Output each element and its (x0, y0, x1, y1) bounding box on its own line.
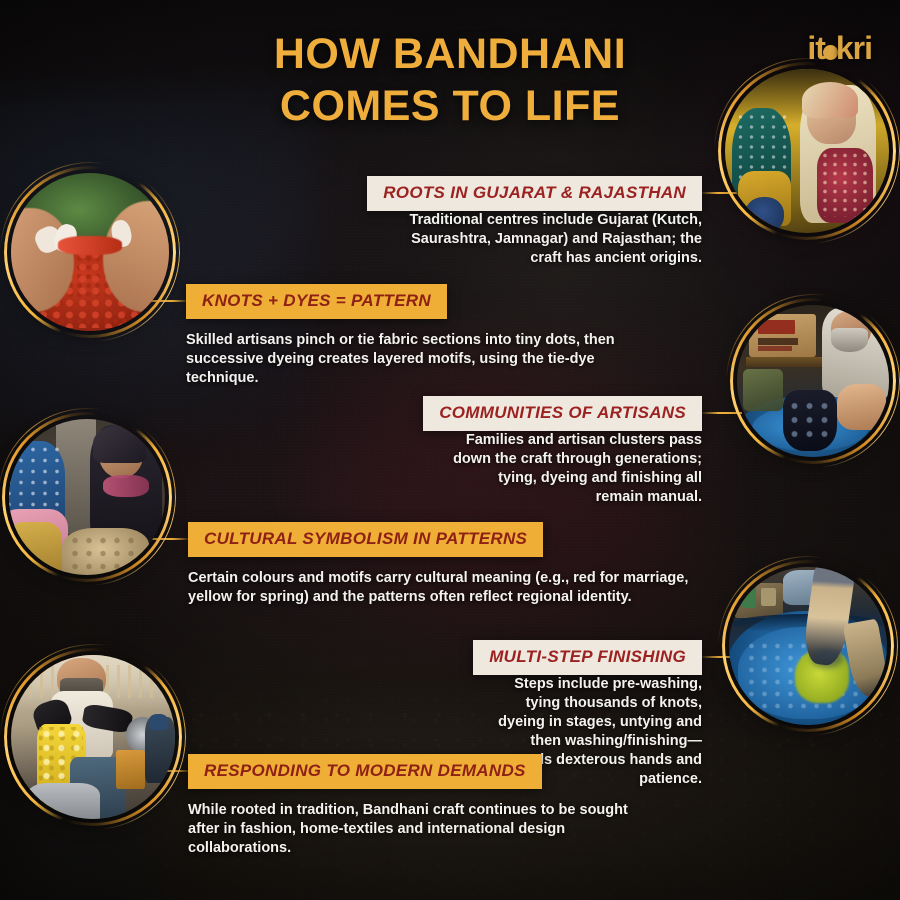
photo-indigo-dyer (730, 298, 896, 464)
section-modern-demands: RESPONDING TO MODERN DEMANDS While roote… (188, 754, 658, 858)
section-cultural-symbolism: CULTURAL SYMBOLISM IN PATTERNS Certain c… (188, 522, 690, 607)
photo-outer-ring-icon (0, 162, 180, 342)
page-title: HOW BANDHANI COMES TO LIFE (0, 28, 900, 132)
brand-logo-part-2: kri (836, 30, 872, 66)
brand-logo: itkri (807, 30, 872, 67)
photo-outer-ring-icon (718, 556, 898, 736)
brand-logo-part-1: it (807, 30, 825, 66)
section-communities-banner: COMMUNITIES OF ARTISANS (423, 396, 702, 431)
section-multi-step-finishing-banner: MULTI-STEP FINISHING (473, 640, 702, 675)
photo-yellow-dye (4, 648, 182, 826)
section-knots-dyes-body: Skilled artisans pinch or tie fabric sec… (186, 331, 648, 388)
section-knots-dyes: KNOTS + DYES = PATTERN Skilled artisans … (186, 284, 648, 388)
section-roots: ROOTS IN GUJARAT & RAJASTHAN Traditional… (398, 176, 702, 268)
section-communities: COMMUNITIES OF ARTISANS Families and art… (448, 396, 702, 507)
section-cultural-symbolism-body: Certain colours and motifs carry cultura… (188, 569, 690, 607)
photo-tying-hands (4, 166, 176, 338)
photo-artisan-women (2, 412, 172, 582)
section-modern-demands-banner: RESPONDING TO MODERN DEMANDS (188, 754, 542, 789)
photo-outer-ring-icon (726, 294, 900, 468)
photo-outer-ring-icon (0, 644, 186, 830)
page-title-line-1: HOW BANDHANI (0, 28, 900, 80)
section-roots-banner: ROOTS IN GUJARAT & RAJASTHAN (367, 176, 702, 211)
photo-vat-bundles (722, 560, 894, 732)
section-modern-demands-body: While rooted in tradition, Bandhani craf… (188, 801, 658, 858)
section-knots-dyes-banner: KNOTS + DYES = PATTERN (186, 284, 447, 319)
page-title-line-2: COMES TO LIFE (0, 80, 900, 132)
section-cultural-symbolism-banner: CULTURAL SYMBOLISM IN PATTERNS (188, 522, 543, 557)
photo-outer-ring-icon (0, 408, 176, 586)
